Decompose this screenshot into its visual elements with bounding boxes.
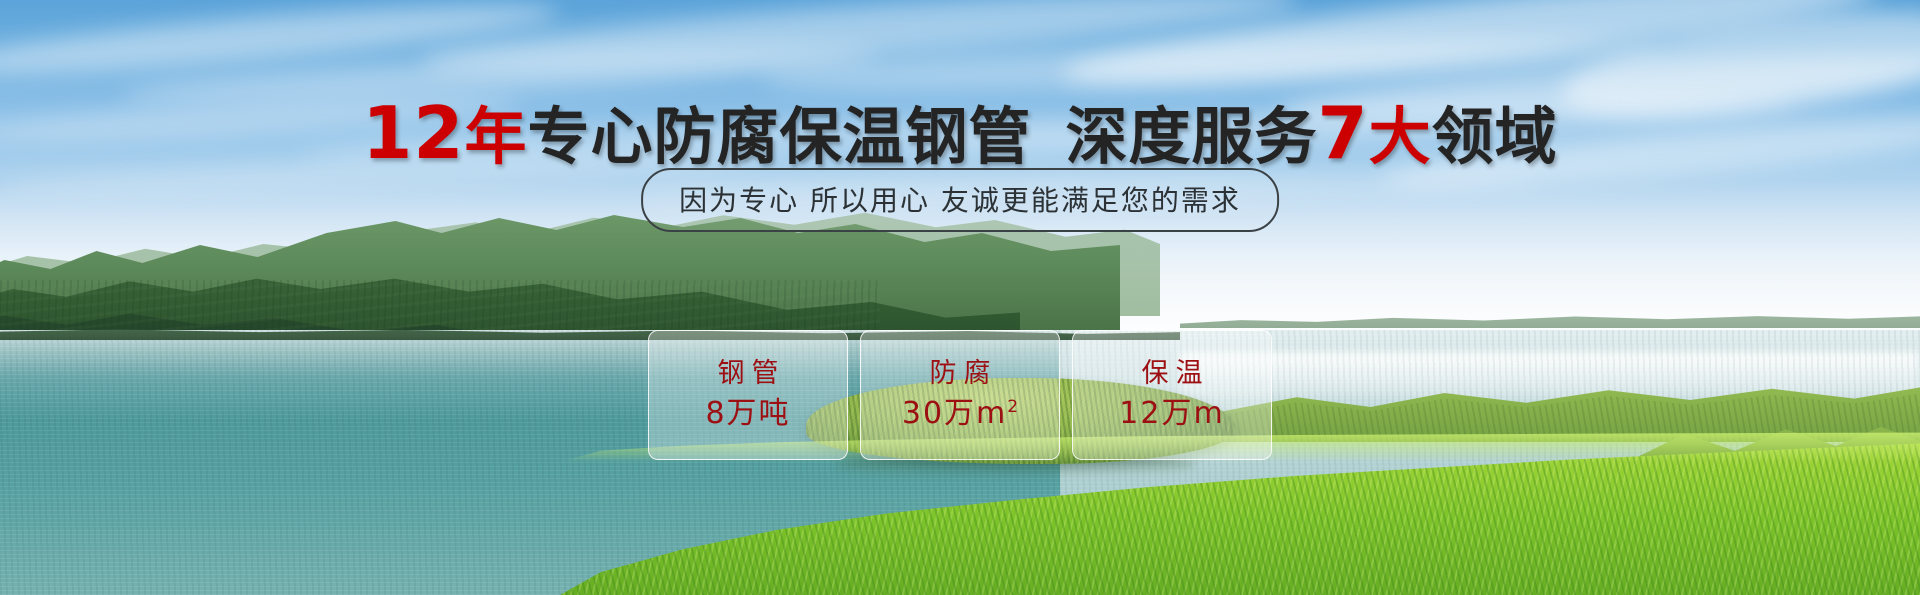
hero-banner: 12年专心防腐保温钢管深度服务7大领域 因为专心 所以用心 友诚更能满足您的需求… (0, 0, 1920, 595)
stat-card-value: 8万吨 (705, 394, 790, 433)
stat-card-steel-pipe[interactable]: 钢管 8万吨 (648, 330, 848, 460)
stat-card-insulation[interactable]: 保温 12万m (1072, 330, 1272, 460)
headline-fields-number: 7 (1318, 91, 1369, 175)
headline-years-number: 12 (362, 91, 464, 175)
stat-card-label: 防腐 (923, 357, 998, 391)
stat-card-value-text: 30万m (902, 396, 1007, 431)
headline-fields-tail: 领域 (1432, 100, 1558, 173)
headline-service-text: 深度服务 (1066, 100, 1318, 173)
headline-years-unit: 年 (465, 100, 528, 173)
stat-card-value: 30万m2 (902, 394, 1018, 433)
stat-card-value-sup: 2 (1007, 397, 1018, 417)
stat-card-value: 12万m (1119, 394, 1224, 433)
subtitle-pill: 因为专心 所以用心 友诚更能满足您的需求 (641, 168, 1279, 232)
stat-card-label: 钢管 (711, 357, 786, 391)
stat-card-label: 保温 (1135, 357, 1210, 391)
stat-card-value-text: 8万吨 (705, 396, 790, 431)
banner-headline: 12年专心防腐保温钢管深度服务7大领域 (0, 86, 1920, 176)
headline-main-text: 专心防腐保温钢管 (528, 100, 1032, 173)
stat-card-group: 钢管 8万吨 防腐 30万m2 保温 12万m (648, 330, 1272, 460)
stat-card-anticorrosion[interactable]: 防腐 30万m2 (860, 330, 1060, 460)
stat-card-value-text: 12万m (1119, 396, 1224, 431)
headline-fields-unit: 大 (1369, 100, 1432, 173)
